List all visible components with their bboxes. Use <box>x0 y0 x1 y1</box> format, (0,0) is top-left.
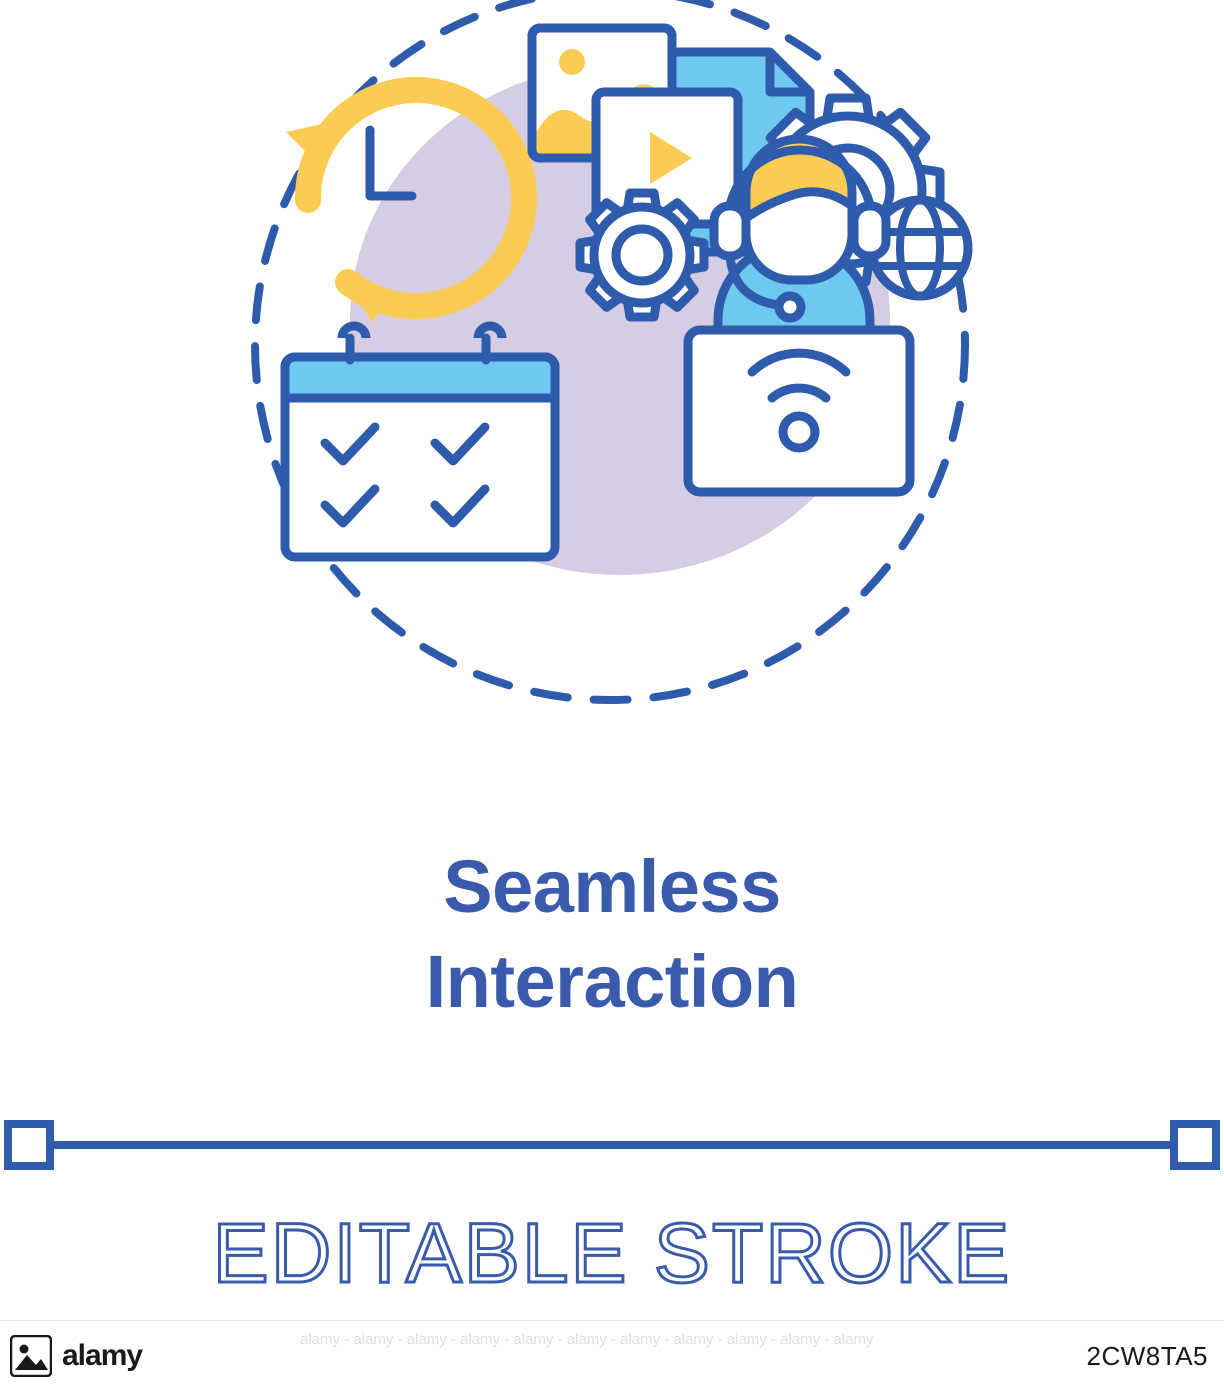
page-title: Seamless Interaction <box>0 840 1224 1029</box>
square-handle-right[interactable] <box>1174 1124 1216 1166</box>
editable-stroke-label: EDITABLE STROKE <box>0 1205 1224 1302</box>
watermark-logo-text: alamy <box>62 1339 142 1373</box>
poster-canvas: Seamless Interaction EDITABLE STROKE ala… <box>0 0 1224 1390</box>
title-line-2: Interaction <box>0 935 1224 1030</box>
watermark-branding: alamy <box>10 1335 142 1377</box>
laptop-wifi-icon <box>688 330 910 492</box>
calendar-checklist-icon <box>285 326 555 557</box>
watermark-image-id: 2CW8TA5 <box>1087 1341 1209 1372</box>
seamless-interaction-illustration <box>190 0 1040 760</box>
watermark-bar: alamy alamy - alamy - alamy - alamy - al… <box>0 1320 1224 1391</box>
watermark-repeat-text: alamy - alamy - alamy - alamy - alamy - … <box>300 1331 920 1381</box>
square-handle-left[interactable] <box>8 1124 50 1166</box>
title-line-1: Seamless <box>0 840 1224 935</box>
alamy-logo-icon <box>10 1335 52 1377</box>
editable-stroke-text: EDITABLE STROKE <box>213 1206 1012 1300</box>
gear-icon-small <box>580 193 704 317</box>
editable-stroke-bar <box>0 1110 1224 1180</box>
